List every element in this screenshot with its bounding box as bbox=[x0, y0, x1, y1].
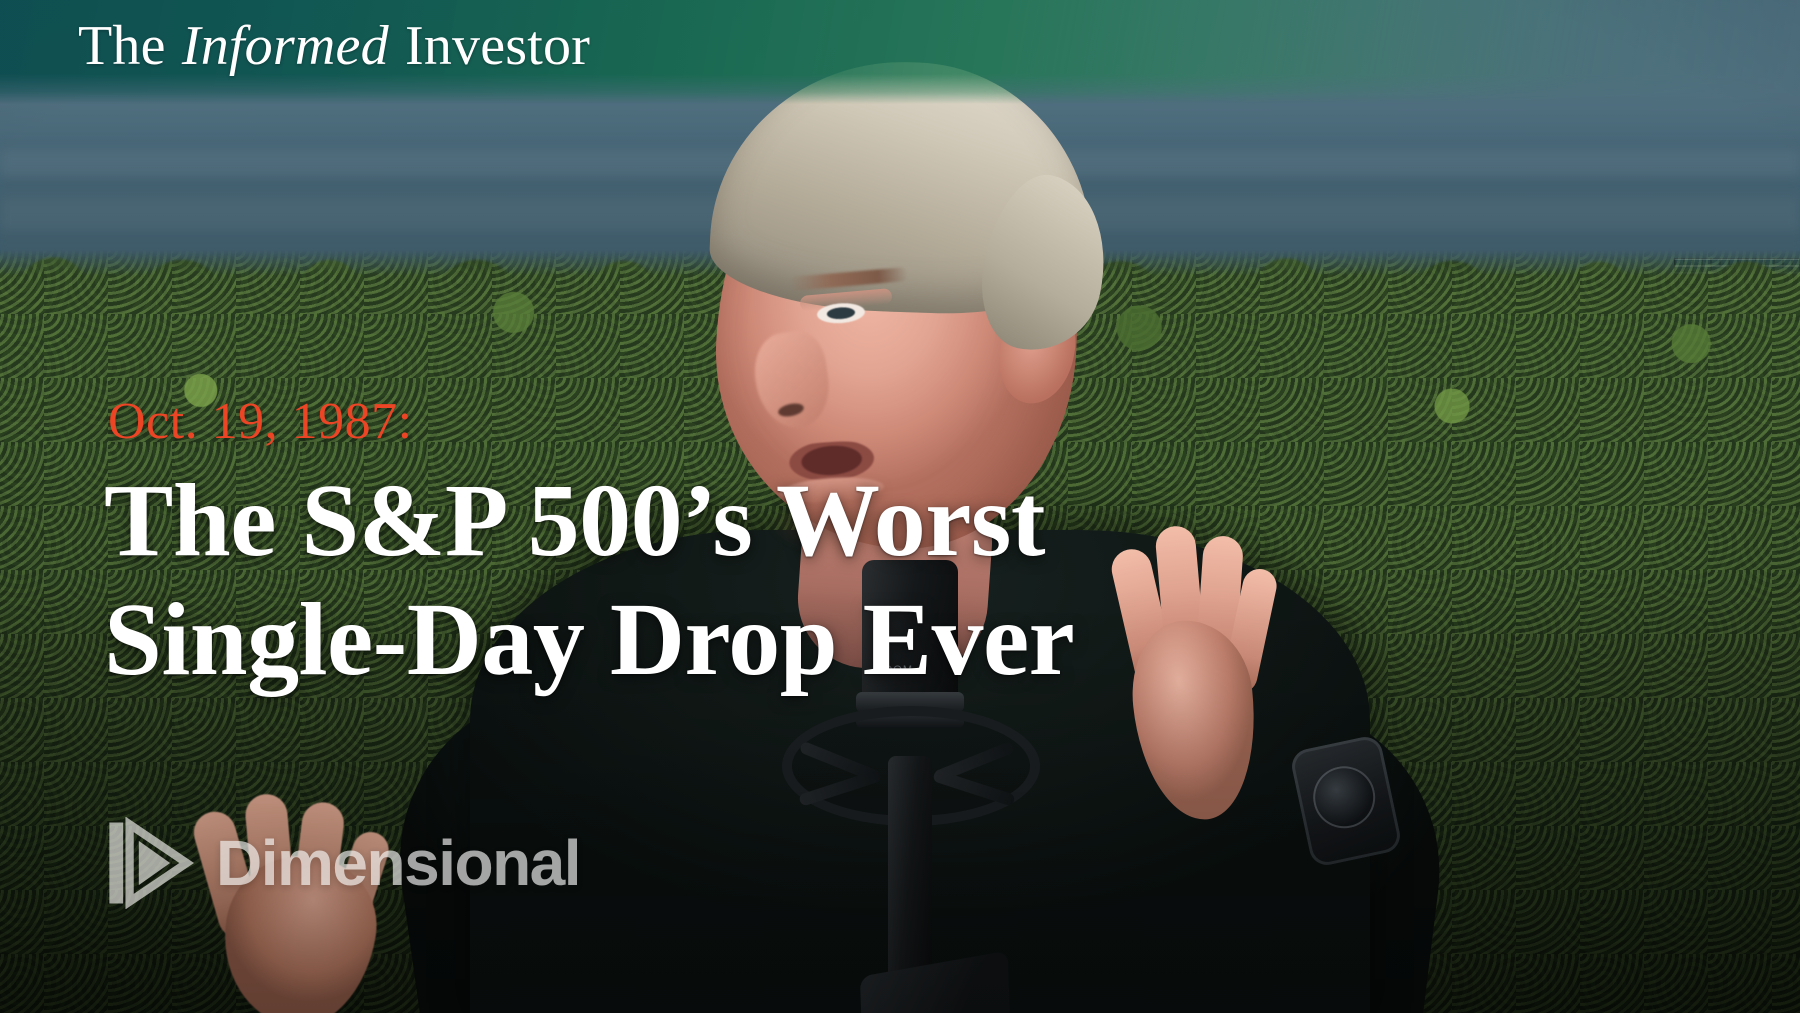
dimensional-logo: Dimensional bbox=[102, 812, 580, 914]
watch-face bbox=[1307, 761, 1381, 835]
dimensional-wordmark: Dimensional bbox=[216, 831, 580, 895]
episode-date-eyebrow: Oct. 19, 1987: bbox=[108, 392, 413, 451]
headline-line-2: Single-Day Drop Ever bbox=[104, 581, 1284, 700]
series-title-emphasis: Informed bbox=[180, 15, 391, 77]
video-title-card: ZOOM The Informed Investor Oct. 19, 1987… bbox=[0, 0, 1800, 1013]
eye bbox=[805, 297, 883, 328]
episode-headline: The S&P 500’s Worst Single-Day Drop Ever bbox=[104, 462, 1284, 699]
dimensional-triangle-mark bbox=[102, 817, 194, 909]
series-title: The Informed Investor bbox=[78, 14, 590, 78]
series-title-prefix: The bbox=[78, 15, 180, 77]
microphone-stand-base bbox=[860, 951, 1010, 1013]
series-title-suffix: Investor bbox=[391, 15, 590, 77]
headline-line-1: The S&P 500’s Worst bbox=[104, 462, 1284, 581]
